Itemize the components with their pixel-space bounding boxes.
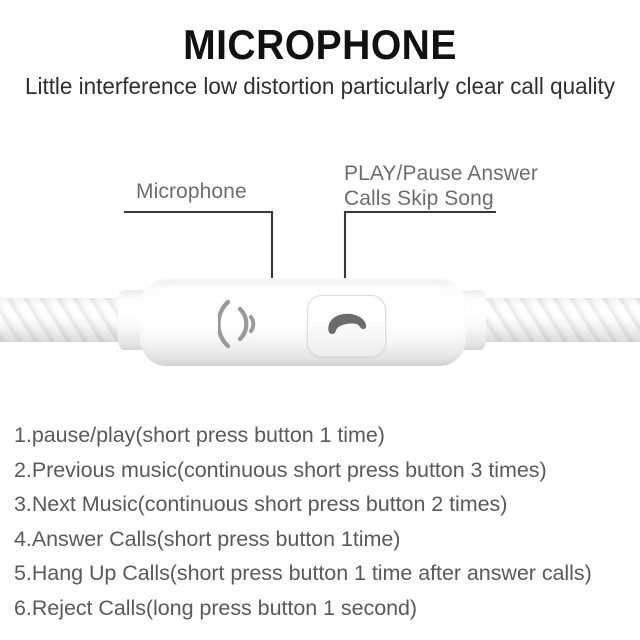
instruction-item: 2.Previous music(continuous short press … <box>14 453 634 488</box>
phone-handset-icon <box>321 308 373 344</box>
page-subtitle: Little interference low distortion parti… <box>14 72 625 100</box>
cable-right <box>474 298 640 342</box>
instruction-item: 1.pause/play(short press button 1 time) <box>14 418 634 453</box>
answer-call-button[interactable] <box>307 295 386 357</box>
infographic-canvas: MICROPHONE Little interference low disto… <box>0 0 640 640</box>
remote-control-body <box>140 278 466 366</box>
page-title: MICROPHONE <box>22 22 617 68</box>
callout-label-microphone: Microphone <box>136 179 247 204</box>
instruction-item: 4.Answer Calls(short press button 1time) <box>14 522 634 557</box>
callout-label-play-answer: PLAY/Pause Answer Calls Skip Song <box>344 161 538 211</box>
microphone-waves-icon <box>218 296 278 352</box>
instruction-list: 1.pause/play(short press button 1 time) … <box>14 418 634 626</box>
instruction-item: 6.Reject Calls(long press button 1 secon… <box>14 591 634 626</box>
instruction-item: 3.Next Music(continuous short press butt… <box>14 487 634 522</box>
instruction-item: 5.Hang Up Calls(short press button 1 tim… <box>14 556 634 591</box>
